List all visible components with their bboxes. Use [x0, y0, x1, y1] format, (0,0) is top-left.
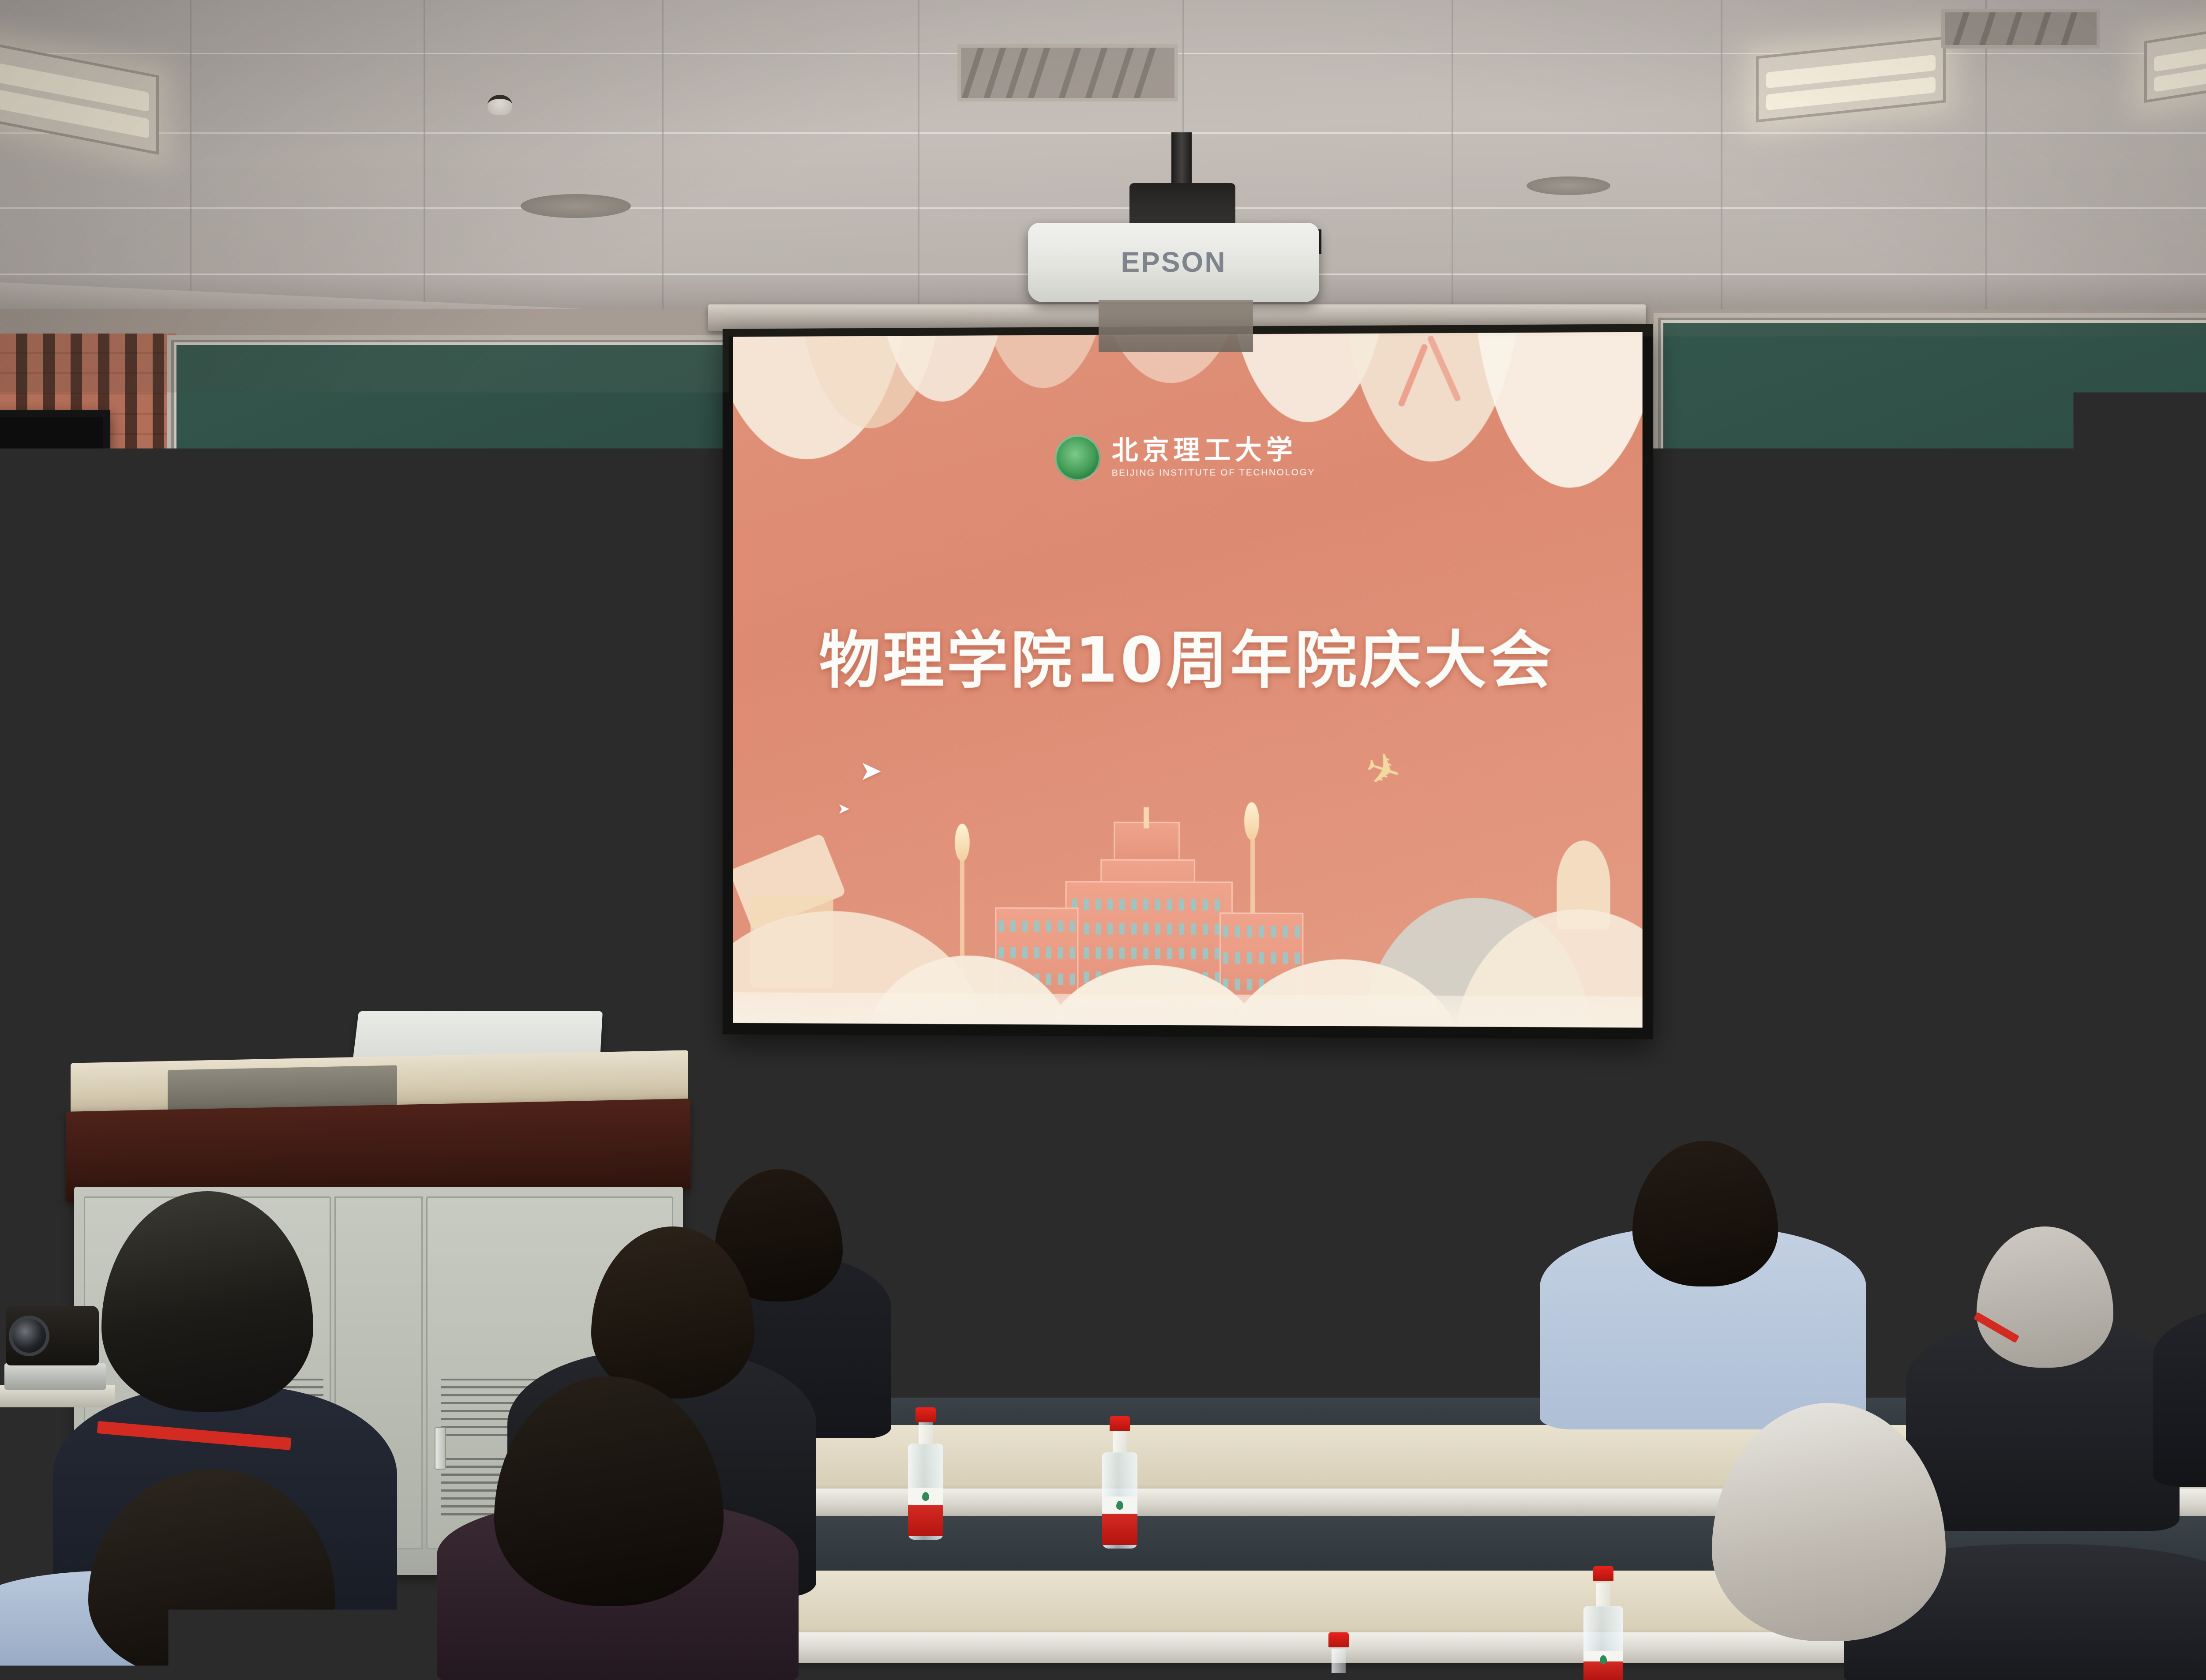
bit-logo-lockup: 北京理工大学 BEIJING INSTITUTE OF TECHNOLOGY [733, 433, 1642, 482]
notice-number: 81382799 [34, 720, 99, 771]
hvac-air-vent [957, 44, 1178, 101]
notice-label: 务监督 [0, 877, 34, 927]
necklace-bead [340, 911, 351, 923]
microphone-capsule-icon [188, 1045, 207, 1057]
wall-speaker-left: HK audio [0, 410, 110, 657]
eyeglasses-bridge [366, 831, 376, 834]
slide-canvas: 北京理工大学 BEIJING INSTITUTE OF TECHNOLOGY 物… [733, 332, 1642, 1028]
projector-brand-label: EPSON [1028, 246, 1319, 278]
water-bottle[interactable] [1099, 1416, 1141, 1549]
hvac-air-vent [1941, 9, 2100, 49]
camera-lens-icon [9, 1316, 49, 1356]
ceiling-speaker-grille [1527, 176, 1610, 195]
notice-number: 8138 2188 [34, 877, 99, 927]
notice-row: 业服务 8138 2822 [0, 823, 99, 875]
speaker-brand-label: HK [34, 615, 58, 631]
dove-icon: ➤ [837, 802, 850, 817]
ptz-camera-base [4, 1363, 106, 1390]
notice-number: 8138 3267 [34, 772, 99, 823]
notice-number: 8138 2822 [34, 825, 99, 875]
necklace-bead [414, 914, 425, 926]
chalkboard-divider-right [1663, 706, 2206, 717]
water-bottle[interactable] [1579, 1566, 1627, 1680]
epson-projector: EPSON [1028, 223, 1319, 302]
water-bottle[interactable] [904, 1407, 947, 1540]
water-bottle[interactable] [1176, 1255, 1214, 1374]
ceiling-light-fixture [2144, 12, 2206, 103]
eyeglasses-icon [332, 823, 366, 847]
necklace-bead [386, 916, 400, 929]
ceiling-speaker-grille [521, 194, 631, 218]
notice-row: 室值班 81382799 [0, 719, 99, 771]
necklace-bead [353, 919, 363, 929]
ceiling-light-fixture [0, 39, 159, 155]
notice-label: 全保卫 [0, 772, 34, 823]
logo-english-name: BEIJING INSTITUTE OF TECHNOLOGY [1112, 467, 1315, 478]
necklace-bead [401, 925, 411, 935]
logo-chinese-name: 北京理工大学 [1112, 437, 1297, 464]
chalkboard-divider-left [176, 700, 726, 711]
hk-audio-badge: HK audio [28, 611, 65, 641]
airplane-icon: ✈ [1360, 745, 1407, 796]
projection-screen: 北京理工大学 BEIJING INSTITUTE OF TECHNOLOGY 物… [723, 324, 1653, 1039]
smoke-detector-icon [488, 95, 512, 115]
ceiling-light-fixture [1756, 36, 1946, 122]
dove-icon: ➤ [859, 757, 882, 785]
notice-label: 室值班 [0, 720, 34, 771]
projector-lens-shade [1099, 300, 1253, 352]
lectern-recessed-tray [168, 1065, 397, 1111]
notice-row: 全保卫 8138 3267 [0, 771, 99, 823]
eyeglasses-icon [373, 823, 408, 847]
projector-mount-pole [1171, 132, 1192, 190]
cabinet-handle[interactable] [435, 1427, 446, 1470]
chalkboard-right [1663, 323, 2206, 1120]
notice-board-header: 服务电话 [0, 681, 99, 719]
slide-title: 物理学院10周年院庆大会 [733, 610, 1642, 700]
notice-row: 务监督 8138 2188 [0, 875, 99, 927]
notice-label: 业服务 [0, 825, 34, 875]
presenter-mouth [353, 868, 382, 875]
lecture-hall-photo: 北京理工大学 BEIJING INSTITUTE OF TECHNOLOGY 物… [0, 0, 2206, 1680]
water-bottle[interactable] [1315, 1632, 1362, 1680]
service-phone-notice-board: 服务电话 室值班 81382799 全保卫 8138 3267 业服务 8138… [0, 679, 101, 926]
smartphone[interactable] [1077, 1337, 1152, 1368]
speaker-brand-sub: audio [36, 631, 57, 637]
bit-seal-icon [1054, 435, 1100, 481]
